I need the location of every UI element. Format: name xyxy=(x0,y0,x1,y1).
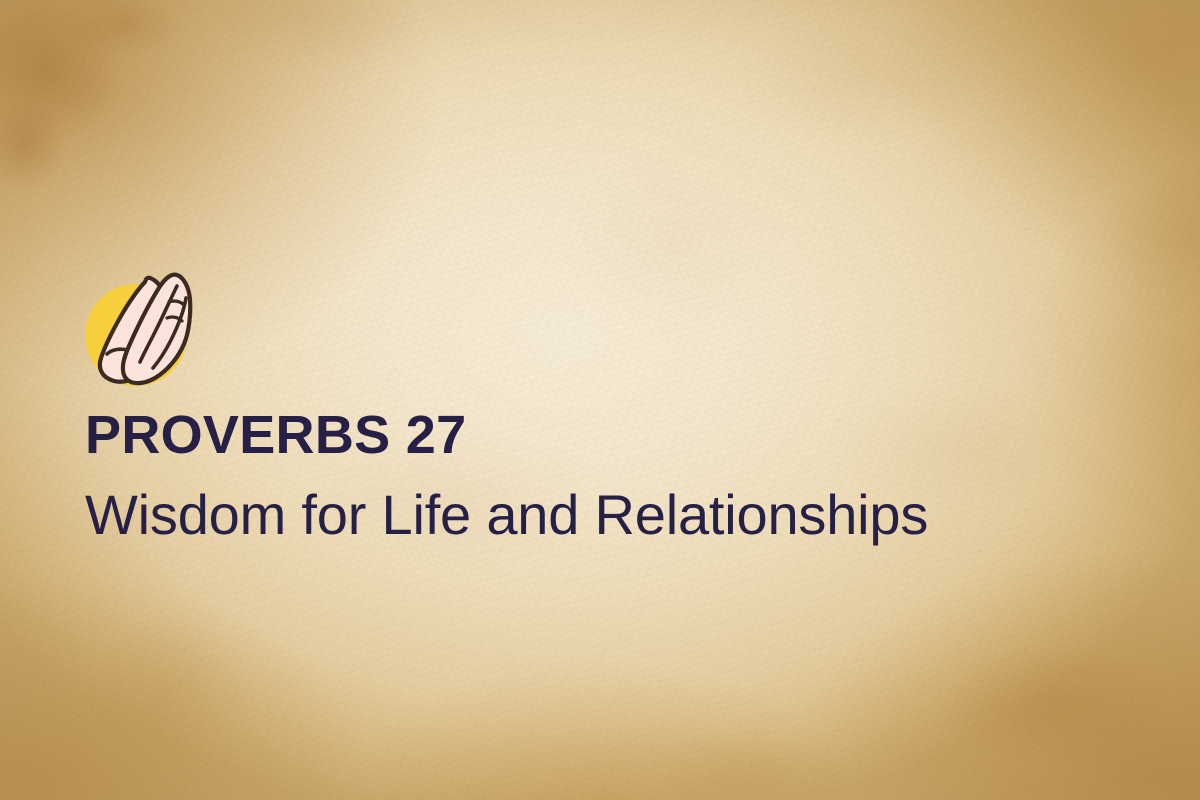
page-subtitle: Wisdom for Life and Relationships xyxy=(85,486,1125,545)
praying-hands-icon xyxy=(85,258,207,386)
page-title: PROVERBS 27 xyxy=(85,408,1125,462)
title-card: PROVERBS 27 Wisdom for Life and Relation… xyxy=(0,0,1200,800)
title-block: PROVERBS 27 Wisdom for Life and Relation… xyxy=(85,258,1125,545)
